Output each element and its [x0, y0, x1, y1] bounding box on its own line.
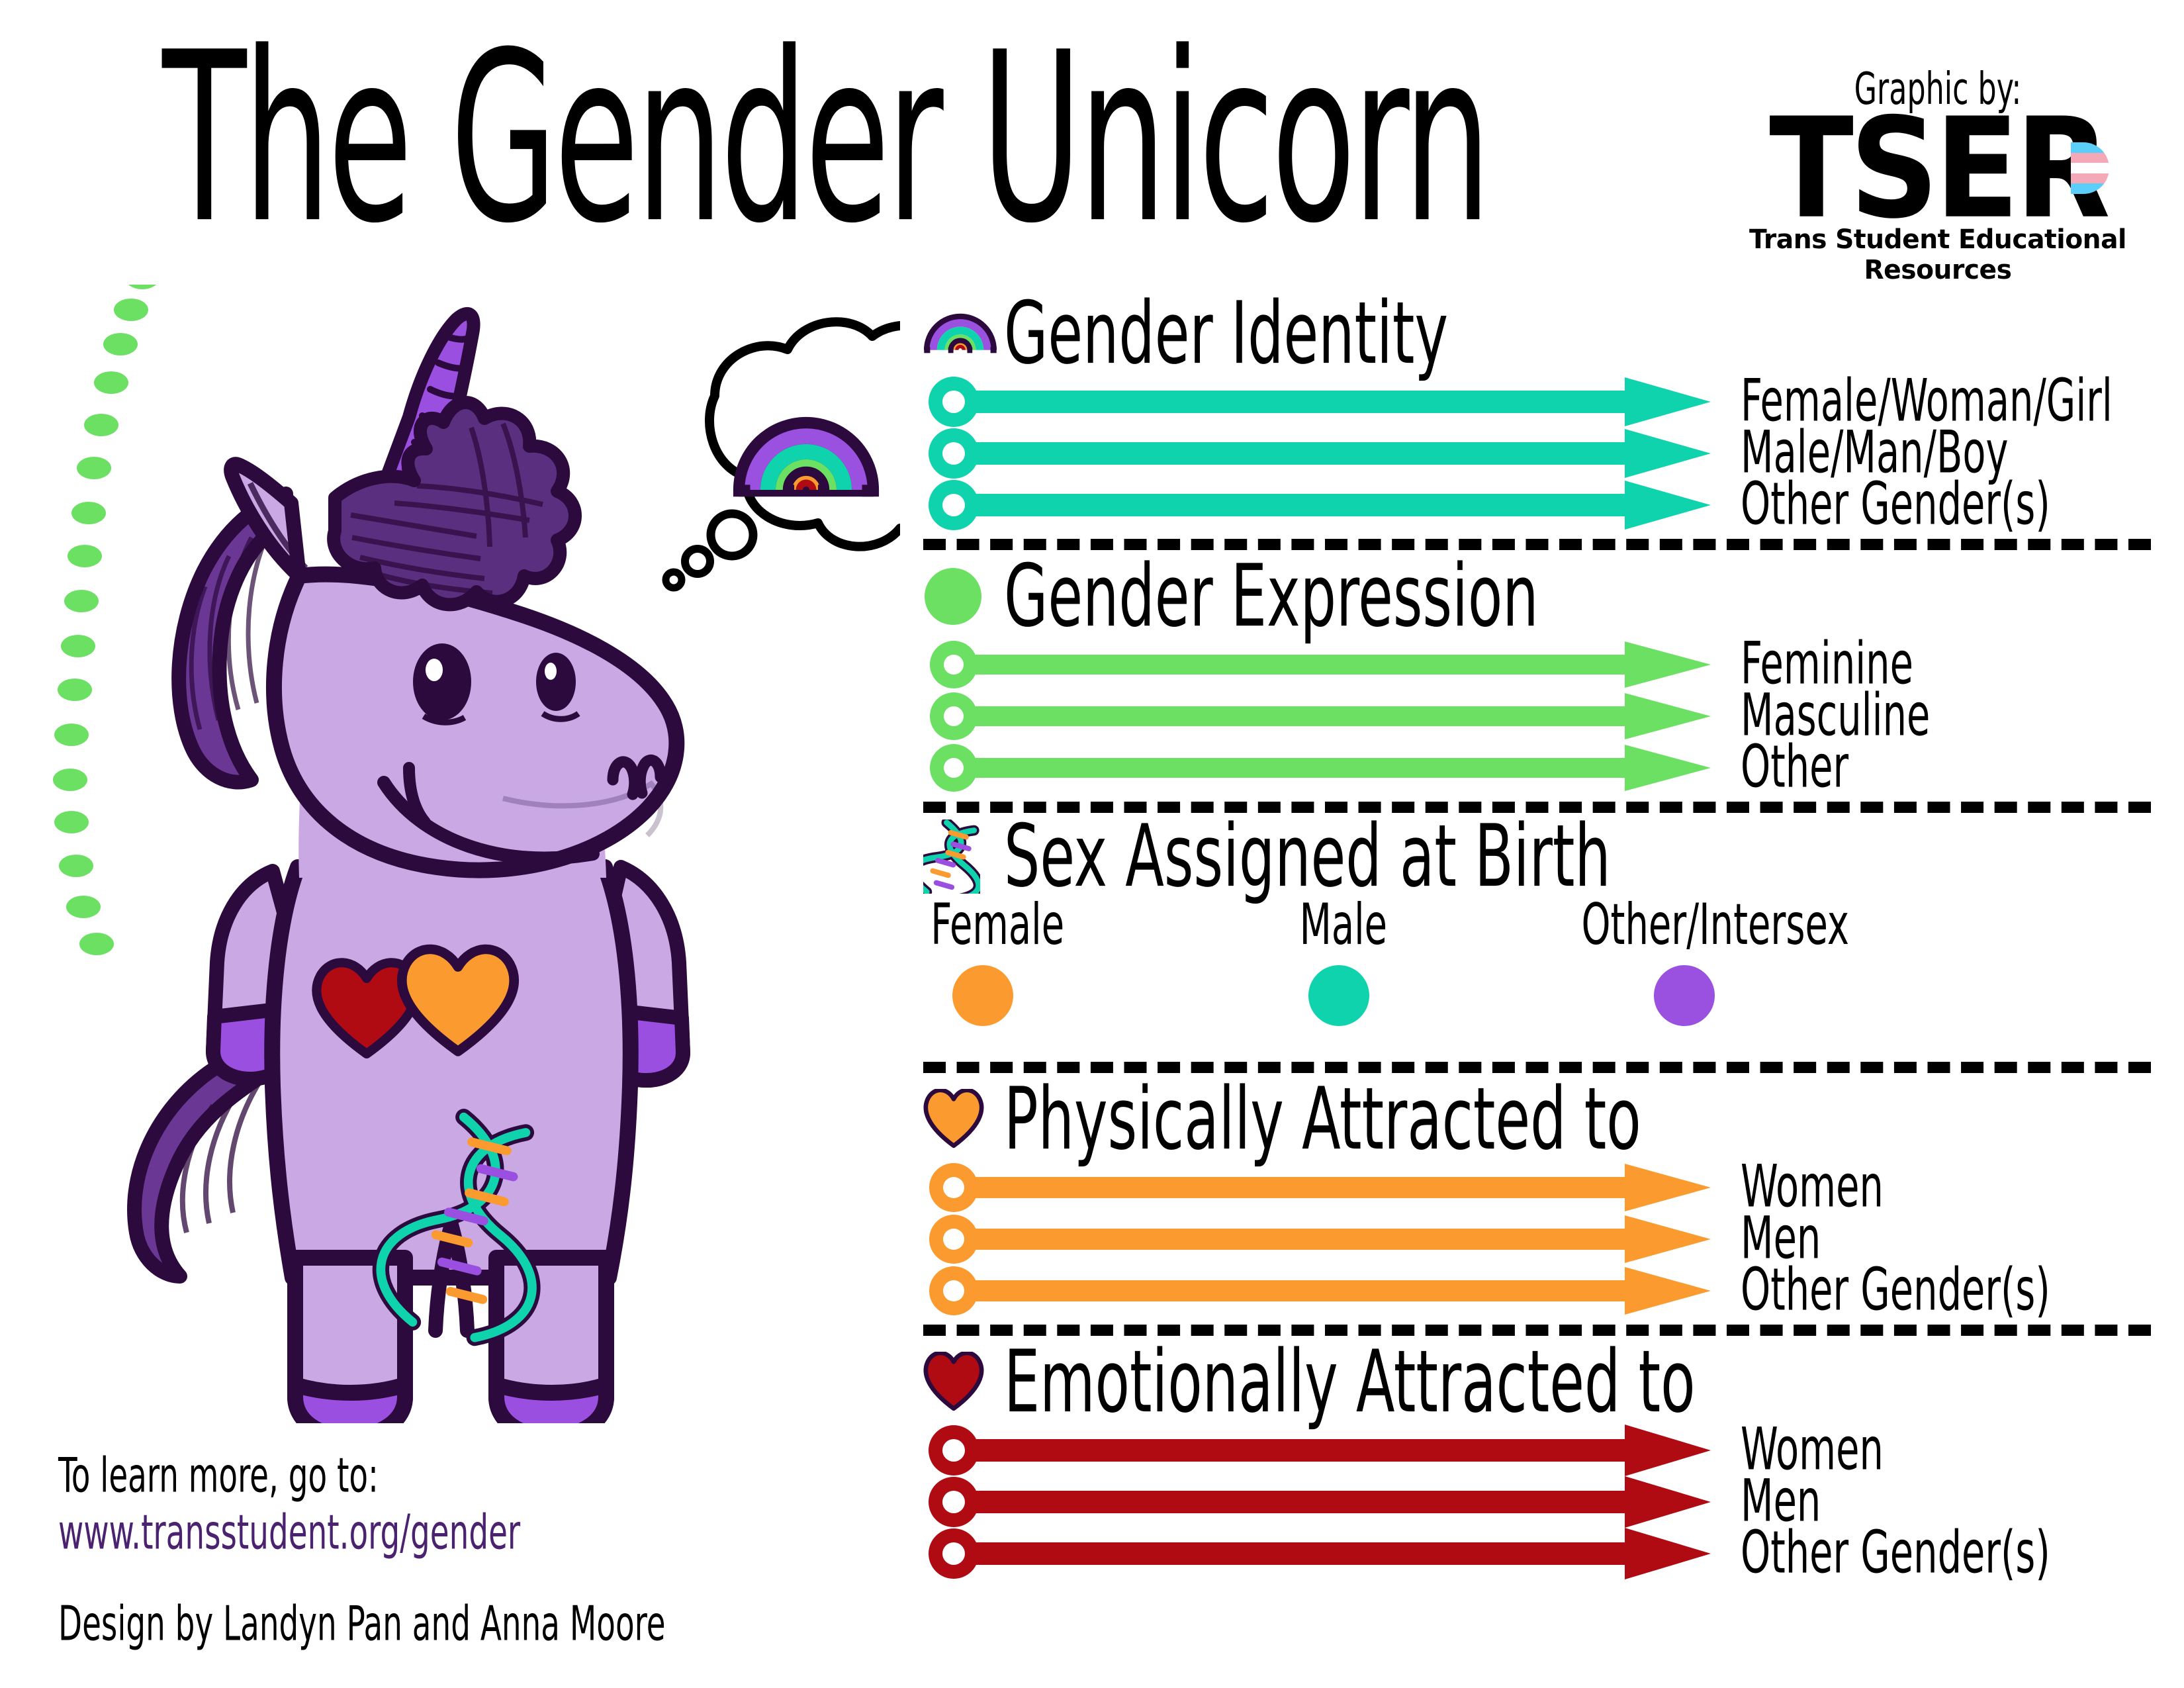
spectrum-label: Other Gender(s) — [1741, 475, 2050, 533]
arrow-rows: Women Men Other Gender(s) — [923, 1425, 2167, 1579]
sab-dot-female[interactable] — [952, 965, 1013, 1026]
spectrum-row[interactable]: Other Gender(s) — [923, 1265, 2167, 1317]
spectrum-row[interactable]: Masculine — [923, 690, 2167, 742]
sab-dot-male[interactable] — [1308, 965, 1369, 1026]
tser-logo-text: TSER — [1769, 112, 2107, 227]
section-physically-attracted-to: Physically Attracted to Women Men — [923, 1077, 2167, 1317]
green-circle-icon — [923, 567, 1001, 626]
arrow-rows: Feminine Masculine Other — [923, 639, 2167, 794]
spectrum-row[interactable]: Women — [923, 1425, 2167, 1476]
section-title: Physically Attracted to — [1004, 1076, 1641, 1162]
right-eye — [536, 653, 576, 711]
green-dots-arc — [53, 285, 159, 955]
spectrum-row[interactable]: Feminine — [923, 639, 2167, 690]
sab-label-male: Male — [1300, 896, 1387, 953]
tser-logo: TSER — [1726, 112, 2150, 218]
spectrum-label: Other Gender(s) — [1741, 1260, 2050, 1319]
sab-label-other: Other/Intersex — [1582, 896, 1849, 953]
spectrum-label: Other — [1741, 737, 1848, 796]
gender-spectrum-panel: Gender Identity Female/Woman/Girl Male/M… — [923, 291, 2167, 1579]
unicorn-illustration — [40, 285, 900, 1423]
design-credit-label: Design by Landyn Pan and Anna Moore — [58, 1595, 666, 1652]
transstudent-url-link[interactable]: www.transstudent.org/gender — [58, 1504, 520, 1560]
learn-more-label: To learn more, go to: — [58, 1447, 379, 1503]
spectrum-row[interactable]: Women — [923, 1162, 2167, 1213]
section-header: Gender Expression — [923, 554, 2167, 639]
left-eye — [413, 643, 471, 720]
tser-logo-subtitle: Trans Student Educational Resources — [1730, 224, 2145, 285]
section-header: Physically Attracted to — [923, 1077, 2167, 1162]
dna-icon — [923, 820, 1001, 894]
tser-credit-block: Graphic by: TSER Trans Student Education… — [1726, 63, 2150, 285]
sab-label-row: Female Male Other/Intersex — [923, 896, 2167, 960]
page-title: The Gender Unicorn — [162, 28, 1488, 250]
section-title: Gender Expression — [1004, 553, 1539, 639]
rainbow-icon — [923, 310, 1001, 357]
section-title: Emotionally Attracted to — [1004, 1339, 1696, 1425]
section-header: Emotionally Attracted to — [923, 1340, 2167, 1425]
section-sex-assigned-at-birth: Sex Assigned at Birth Female Male Other/… — [923, 817, 2167, 1045]
arrow-rows: Women Men Other Gender(s) — [923, 1162, 2167, 1317]
section-title: Sex Assigned at Birth — [1004, 814, 1611, 900]
sab-label-female: Female — [931, 896, 1064, 953]
sab-dot-row — [923, 960, 2167, 1045]
unicorn-character — [134, 314, 683, 1423]
orange-heart-icon — [923, 1089, 1001, 1150]
thought-bubble — [666, 322, 900, 588]
spectrum-row[interactable]: Other Gender(s) — [923, 479, 2167, 531]
section-emotionally-attracted-to: Emotionally Attracted to Women Men — [923, 1340, 2167, 1579]
section-gender-expression: Gender Expression Feminine Masculine — [923, 554, 2167, 794]
section-header: Gender Identity — [923, 291, 2167, 376]
spectrum-label: Other Gender(s) — [1741, 1523, 2050, 1581]
spectrum-row[interactable]: Other — [923, 742, 2167, 794]
section-header: Sex Assigned at Birth — [923, 817, 2167, 896]
section-title: Gender Identity — [1004, 291, 1448, 377]
section-gender-identity: Gender Identity Female/Woman/Girl Male/M… — [923, 291, 2167, 531]
arrow-rows: Female/Woman/Girl Male/Man/Boy Other Gen… — [923, 376, 2167, 531]
red-heart-icon — [923, 1352, 1001, 1413]
spectrum-row[interactable]: Other Gender(s) — [923, 1528, 2167, 1579]
sab-dot-other[interactable] — [1654, 965, 1715, 1026]
